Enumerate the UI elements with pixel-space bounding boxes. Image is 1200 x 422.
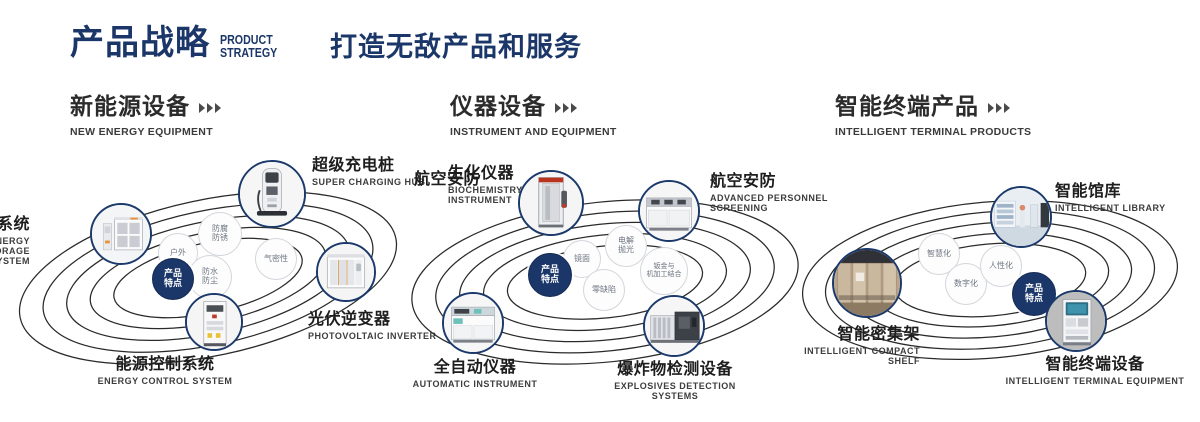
feature-bubble-line1: 人性化 [989, 262, 1013, 271]
section-title-new-energy: 新能源设备 NEW ENERGY EQUIPMENT [70, 96, 221, 138]
product-features-line1: 产品 [541, 265, 559, 275]
product-circle-advanced-personnel-screening[interactable] [638, 180, 700, 242]
page-title-cn: 产品战略 [70, 26, 210, 60]
section-title-intelligent-terminal: 智能终端产品 INTELLIGENT TERMINAL PRODUCTS [835, 96, 1031, 138]
cluster-intelligent-terminal-products: 智慧化 数字化 人性化 产品 特点 [790, 150, 1200, 400]
page-title-en-line2: STRATEGY [220, 46, 277, 59]
product-label-cn: 全自动仪器 [410, 358, 540, 376]
product-features-badge: 产品 特点 [152, 258, 194, 300]
page-subtitle: 打造无敌产品和服务 [330, 34, 582, 61]
kiosk-icon [1047, 292, 1105, 350]
chevron-right-icon [555, 103, 577, 113]
product-label-biochemistry-instrument: 生化仪器 BIOCHEMISTRY INSTRUMENT [448, 164, 540, 205]
product-label-en: BIOCHEMISTRY INSTRUMENT [448, 185, 540, 205]
cluster-new-energy-equipment: 户外 防腐 防锈 防水 防尘 气密性 产品 特点 [0, 150, 420, 400]
product-label-intelligent-library: 智能馆库 INTELLIGENT LIBRARY [1055, 182, 1185, 213]
section-title-en: NEW ENERGY EQUIPMENT [70, 126, 221, 138]
product-label-cn: 储能系统 [0, 215, 30, 233]
product-label-cn: 生化仪器 [448, 164, 540, 182]
product-label-explosives-detection-systems: 爆炸物检测设备 EXPLOSIVES DETECTION SYSTEMS [605, 360, 745, 401]
product-circle-photovoltaic-inverter[interactable] [316, 242, 376, 302]
product-label-en: EXPLOSIVES DETECTION SYSTEMS [605, 381, 745, 401]
product-features-badge: 产品 特点 [528, 253, 572, 297]
feature-bubble: 防腐 防锈 [198, 212, 242, 256]
page-header: 产品战略 PRODUCT STRATEGY [70, 26, 290, 60]
control-rack-icon [187, 295, 241, 349]
feature-bubble-line1: 数字化 [954, 280, 978, 289]
product-label-automatic-instrument: 全自动仪器 AUTOMATIC INSTRUMENT [410, 358, 540, 389]
product-circle-intelligent-library[interactable] [990, 186, 1052, 248]
charging-pile-icon [240, 162, 304, 226]
battery-cabinet-icon [92, 205, 150, 263]
product-label-en: INTELLIGENT TERMINAL EQUIPMENT [1005, 376, 1185, 386]
chevron-right-icon [988, 103, 1010, 113]
product-strategy-infographic: 产品战略 PRODUCT STRATEGY 打造无敌产品和服务 新能源设备 NE… [0, 0, 1200, 422]
feature-bubble-line1: 户外 [170, 249, 186, 258]
product-label-cn: 爆炸物检测设备 [605, 360, 745, 378]
product-features-line1: 产品 [1025, 284, 1043, 294]
product-circle-automatic-instrument[interactable] [442, 292, 504, 354]
product-circle-energy-storage-system[interactable] [90, 203, 152, 265]
product-label-intelligent-compact-shelf: 智能密集架 INTELLIGENT COMPACT SHELF [785, 325, 920, 366]
cluster-instrument-and-equipment: 镜面 电解 抛光 钣金与 机加工结合 零缺陷 产品 特点 [400, 150, 820, 400]
product-label-en: AUTOMATIC INSTRUMENT [410, 379, 540, 389]
section-title-instrument: 仪器设备 INSTRUMENT AND EQUIPMENT [450, 96, 617, 138]
product-circle-explosives-detection-systems[interactable] [643, 295, 705, 357]
product-features-line2: 特点 [1025, 294, 1043, 304]
feature-bubble-line2: 机加工结合 [647, 271, 682, 279]
product-label-cn: 智能终端设备 [1005, 355, 1185, 373]
product-circle-intelligent-terminal-equipment[interactable] [1045, 290, 1107, 352]
compact-shelf-icon [834, 250, 900, 316]
product-label-cn: 能源控制系统 [85, 355, 245, 373]
section-title-cn: 新能源设备 [70, 96, 190, 119]
product-label-en: ENERGY CONTROL SYSTEM [85, 376, 245, 386]
feature-bubble-line1: 气密性 [264, 255, 288, 264]
feature-bubble: 钣金与 机加工结合 [640, 247, 688, 295]
feature-bubble-line1: 镜面 [574, 255, 590, 264]
product-label-cn: 智能馆库 [1055, 182, 1185, 200]
auto-instrument-icon [444, 294, 502, 352]
product-label-intelligent-terminal-equipment: 智能终端设备 INTELLIGENT TERMINAL EQUIPMENT [1005, 355, 1185, 386]
product-label-en: INTELLIGENT LIBRARY [1055, 203, 1185, 213]
feature-bubble-line2: 抛光 [618, 246, 634, 255]
product-label-energy-storage-system: 储能系统 ENERGY STORAGE SYSTEM [0, 215, 30, 266]
product-circle-super-charging-hub[interactable] [238, 160, 306, 228]
feature-bubble-line1: 智慧化 [927, 250, 951, 259]
feature-bubble-line1: 零缺陷 [592, 286, 616, 295]
product-features-line2: 特点 [541, 275, 559, 285]
product-features-line1: 产品 [164, 269, 182, 279]
product-label-en: ENERGY STORAGE SYSTEM [0, 236, 30, 266]
product-label-energy-control-system: 能源控制系统 ENERGY CONTROL SYSTEM [85, 355, 245, 386]
product-label-cn: 智能密集架 [785, 325, 920, 343]
product-features-line2: 特点 [164, 279, 182, 289]
explosive-detector-icon [645, 297, 703, 355]
section-title-cn: 智能终端产品 [835, 96, 979, 119]
pv-inverter-icon [318, 244, 374, 300]
feature-bubble: 气密性 [255, 238, 297, 280]
product-label-en: INTELLIGENT COMPACT SHELF [785, 346, 920, 366]
product-circle-intelligent-compact-shelf[interactable] [832, 248, 902, 318]
product-circle-energy-control-system[interactable] [185, 293, 243, 351]
library-room-icon [992, 188, 1050, 246]
feature-bubble-line2: 防尘 [202, 277, 218, 286]
feature-bubble: 零缺陷 [583, 269, 625, 311]
analyzer-icon [640, 182, 698, 240]
page-title-en: PRODUCT STRATEGY [220, 33, 277, 59]
feature-bubble-line2: 防锈 [212, 234, 228, 243]
chevron-right-icon [199, 103, 221, 113]
section-title-en: INSTRUMENT AND EQUIPMENT [450, 126, 617, 138]
section-title-cn: 仪器设备 [450, 96, 546, 119]
section-title-en: INTELLIGENT TERMINAL PRODUCTS [835, 126, 1031, 138]
